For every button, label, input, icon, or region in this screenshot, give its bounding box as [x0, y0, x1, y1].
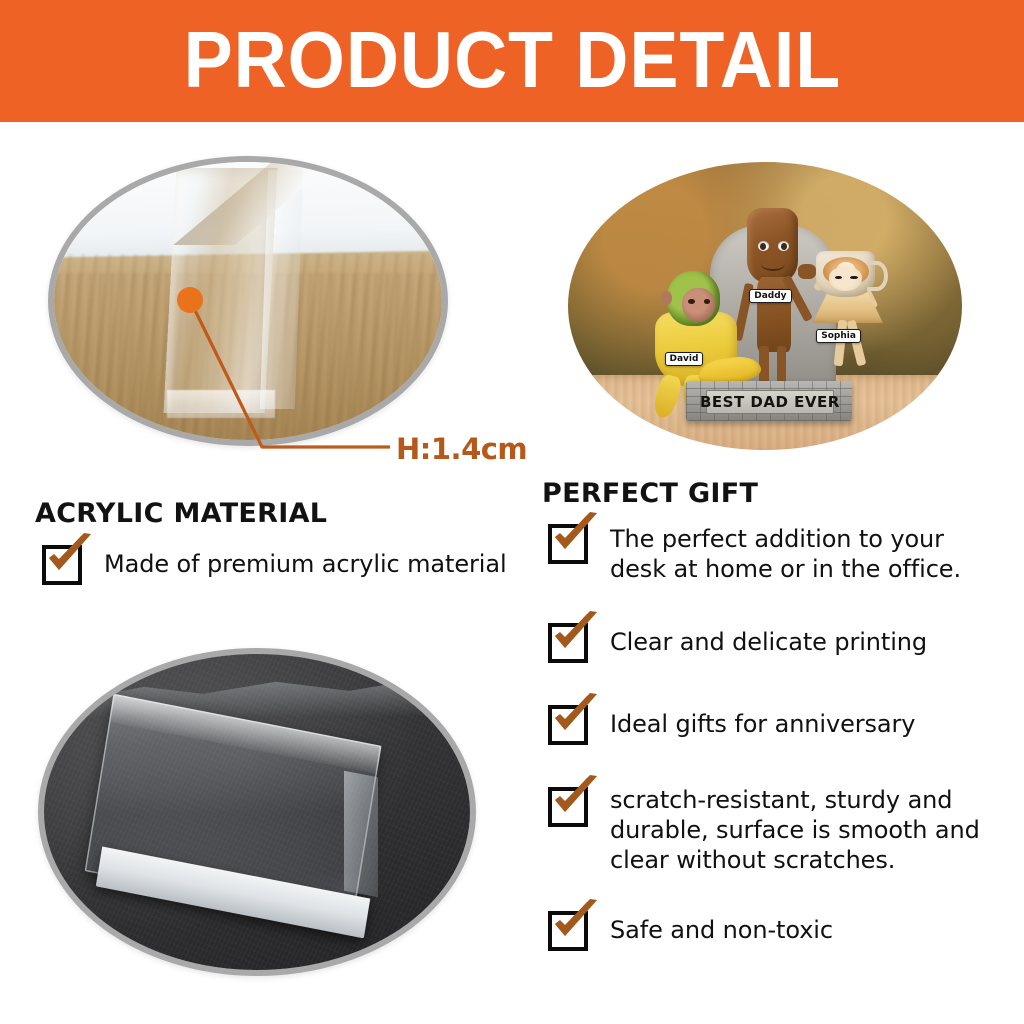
list-item: Ideal gifts for anniversary: [548, 705, 1000, 745]
height-measurement-label: H:1.4cm: [396, 432, 527, 466]
monkey-face: [682, 288, 715, 322]
section-title-perfect-gift: PERFECT GIFT: [542, 478, 758, 509]
product-detail-infographic: PRODUCT DETAIL: [0, 0, 1024, 1024]
daddy-smile: [761, 257, 786, 271]
sophia-face: [829, 267, 862, 291]
checkmark-icon: [549, 898, 603, 952]
monkey-right-eye: [704, 299, 711, 304]
list-item: scratch-resistant, sturdy and durable, s…: [548, 787, 1000, 875]
checkbox-checked[interactable]: [548, 787, 588, 827]
perfect-gift-feature-list: The perfect addition to your desk at hom…: [548, 524, 1000, 951]
name-tag-david: David: [665, 352, 704, 366]
feature-text: The perfect addition to your desk at hom…: [610, 524, 998, 584]
acrylic-material-feature-list: Made of premium acrylic material: [42, 545, 522, 585]
measurement-dot: [177, 287, 203, 313]
list-item: Clear and delicate printing: [548, 623, 1000, 663]
header-banner: PRODUCT DETAIL: [0, 0, 1024, 122]
personalized-figurine-photo: BEST DAD EVER David Daddy Sophia: [568, 162, 962, 450]
checkbox-checked[interactable]: [548, 911, 588, 951]
feature-text: Ideal gifts for anniversary: [610, 709, 998, 739]
daddy-left-eye: [758, 241, 769, 251]
checkmark-icon: [549, 610, 603, 664]
section-title-acrylic-material: ACRYLIC MATERIAL: [35, 498, 327, 529]
feature-text: scratch-resistant, sturdy and durable, s…: [610, 785, 1000, 875]
checkbox-checked[interactable]: [42, 545, 82, 585]
checkmark-icon: [549, 774, 603, 828]
daddy-right-pupil: [781, 243, 787, 249]
name-tag-sophia: Sophia: [816, 329, 861, 343]
acrylic-block-base: [167, 390, 276, 418]
figurine-stone-base: BEST DAD EVER: [686, 381, 851, 421]
sophia-latte-cup-head: [816, 251, 875, 297]
checkmark-icon: [549, 511, 603, 565]
acrylic-slab-photo: [38, 648, 476, 976]
checkbox-checked[interactable]: [548, 623, 588, 663]
list-item: Made of premium acrylic material: [42, 545, 522, 585]
acrylic-block-edge-photo: [48, 156, 448, 446]
sophia-right-eye: [850, 276, 857, 280]
acrylic-slab-right-edge: [344, 771, 378, 898]
checkbox-checked[interactable]: [548, 524, 588, 564]
daddy-head: [747, 208, 798, 283]
david-monkey-head: [667, 271, 720, 326]
feature-text: Clear and delicate printing: [610, 627, 998, 657]
monkey-ear: [661, 291, 673, 305]
daddy-left-pupil: [760, 243, 766, 249]
daddy-right-hand: [798, 264, 816, 278]
name-tag-daddy: Daddy: [749, 289, 791, 303]
checkbox-checked[interactable]: [548, 705, 588, 745]
monkey-left-eye: [688, 299, 695, 304]
list-item: The perfect addition to your desk at hom…: [548, 524, 1000, 584]
checkmark-icon: [549, 692, 603, 746]
page-title: PRODUCT DETAIL: [183, 20, 841, 100]
figurine-plaque: BEST DAD EVER: [706, 390, 834, 415]
sophia-left-eye: [835, 276, 842, 280]
plaque-text: BEST DAD EVER: [700, 393, 840, 411]
list-item: Safe and non-toxic: [548, 911, 1000, 951]
checkmark-icon: [43, 532, 97, 586]
feature-text: Safe and non-toxic: [610, 915, 998, 945]
daddy-right-eye: [778, 241, 789, 251]
feature-text: Made of premium acrylic material: [104, 549, 507, 579]
